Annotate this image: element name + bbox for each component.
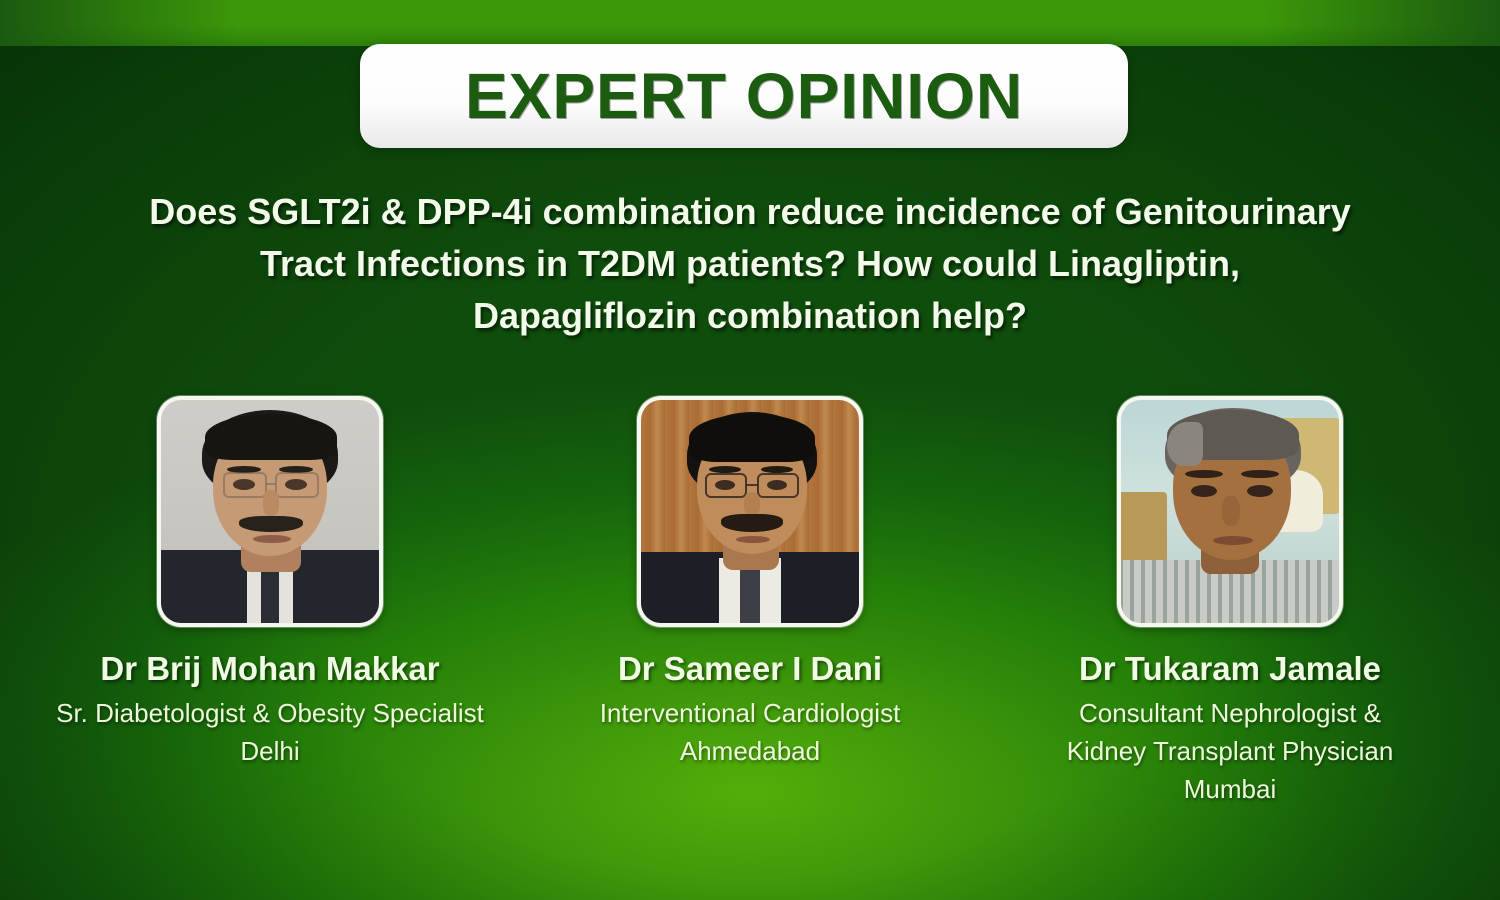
- expert-role-line-1-1: Sr. Diabetologist & Obesity Specialist: [56, 694, 484, 732]
- expert-name-1: Dr Brij Mohan Makkar: [100, 649, 439, 689]
- background-top-band-shading: [0, 0, 1500, 46]
- expert-card-2: Dr Sameer I Dani Interventional Cardiolo…: [525, 396, 975, 770]
- expert-name-3: Dr Tukaram Jamale: [1079, 649, 1381, 689]
- experts-row: Dr Brij Mohan Makkar Sr. Diabetologist &…: [0, 396, 1500, 808]
- expert-city-3: Mumbai: [1184, 770, 1276, 808]
- expert-role-2: Interventional Cardiologist: [600, 694, 901, 732]
- portrait-photo-icon-3: [1121, 400, 1339, 623]
- expert-name-2: Dr Sameer I Dani: [618, 649, 882, 689]
- expert-photo-frame-3: [1117, 396, 1343, 627]
- title-banner: EXPERT OPINION: [360, 44, 1128, 148]
- page-title: EXPERT OPINION: [465, 59, 1023, 133]
- expert-city-2: Ahmedabad: [680, 732, 820, 770]
- expert-role-1: Sr. Diabetologist & Obesity Specialist: [56, 694, 484, 732]
- headline-line-3: Dapagliflozin combination help?: [20, 290, 1480, 342]
- headline-line-2: Tract Infections in T2DM patients? How c…: [20, 238, 1480, 290]
- expert-role-3: Consultant Nephrologist & Kidney Transpl…: [1067, 694, 1394, 770]
- portrait-photo-icon-2: [641, 400, 859, 623]
- expert-role-line-2-1: Interventional Cardiologist: [600, 694, 901, 732]
- headline-line-1: Does SGLT2i & DPP-4i combination reduce …: [20, 186, 1480, 238]
- expert-card-1: Dr Brij Mohan Makkar Sr. Diabetologist &…: [45, 396, 495, 770]
- expert-role-line-3-1: Consultant Nephrologist &: [1067, 694, 1394, 732]
- expert-role-line-3-2: Kidney Transplant Physician: [1067, 732, 1394, 770]
- expert-photo-frame-2: [637, 396, 863, 627]
- expert-photo-frame-1: [157, 396, 383, 627]
- expert-card-3: Dr Tukaram Jamale Consultant Nephrologis…: [1005, 396, 1455, 808]
- expert-city-1: Delhi: [240, 732, 299, 770]
- portrait-photo-icon-1: [161, 400, 379, 623]
- headline: Does SGLT2i & DPP-4i combination reduce …: [20, 186, 1480, 342]
